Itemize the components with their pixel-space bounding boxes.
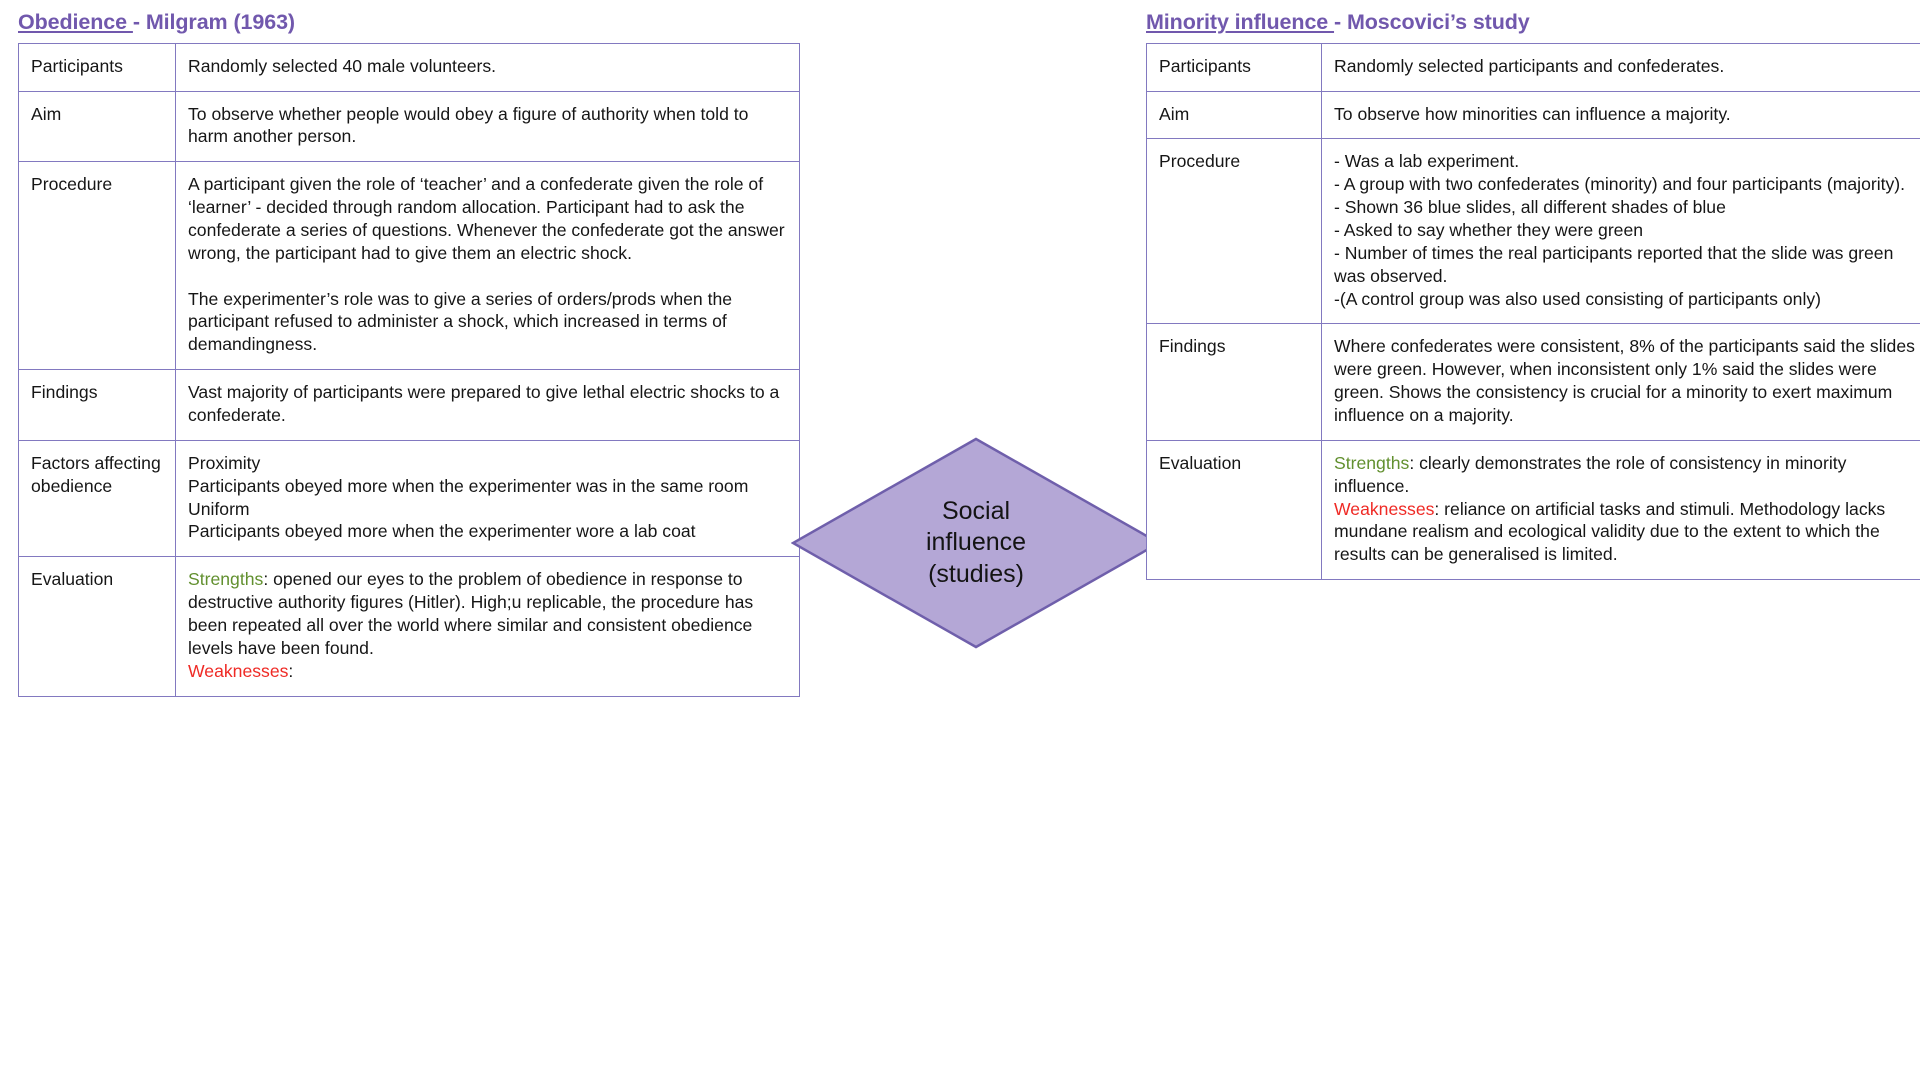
- evaluation-strengths: Strengths: clearly demonstrates the role…: [1334, 452, 1915, 498]
- weaknesses-label: Weaknesses: [188, 661, 288, 681]
- table-obedience: Participants Randomly selected 40 male v…: [18, 43, 800, 697]
- paragraph: To observe whether people would obey a f…: [188, 103, 787, 149]
- strengths-label: Strengths: [188, 569, 263, 589]
- list-item: - A group with two confederates (minorit…: [1334, 173, 1915, 196]
- row-body-procedure: - Was a lab experiment. - A group with t…: [1322, 139, 1920, 324]
- panel-title-subtitle: - Milgram (1963): [133, 10, 295, 34]
- table-row: Aim To observe how minorities can influe…: [1147, 91, 1920, 139]
- row-label-evaluation: Evaluation: [1147, 440, 1322, 579]
- study-panel-obedience: Obedience - Milgram (1963) Participants …: [18, 10, 800, 697]
- diamond-shape-icon: [791, 437, 1161, 649]
- paragraph: A participant given the role of ‘teacher…: [188, 173, 787, 264]
- table-row: Procedure - Was a lab experiment. - A gr…: [1147, 139, 1920, 324]
- weaknesses-label: Weaknesses: [1334, 499, 1434, 519]
- table-row: Findings Vast majority of participants w…: [19, 370, 800, 441]
- row-label-evaluation: Evaluation: [19, 557, 176, 696]
- paragraph: The experimenter’s role was to give a se…: [188, 288, 787, 357]
- list-item: - Shown 36 blue slides, all different sh…: [1334, 196, 1915, 219]
- strengths-text: : clearly demonstrates the role of consi…: [1334, 453, 1846, 496]
- paragraph: Where confederates were consistent, 8% o…: [1334, 335, 1915, 426]
- panel-title-subtitle: - Moscovici’s study: [1334, 10, 1530, 34]
- table-minority-influence: Participants Randomly selected participa…: [1146, 43, 1920, 580]
- table-row: Participants Randomly selected participa…: [1147, 43, 1920, 91]
- list-item: Proximity: [188, 452, 787, 475]
- center-node-social-influence: Social influence (studies): [791, 437, 1161, 649]
- row-label-aim: Aim: [19, 91, 176, 162]
- mindmap-canvas: Obedience - Milgram (1963) Participants …: [0, 0, 1920, 1080]
- list-item: Participants obeyed more when the experi…: [188, 475, 787, 498]
- strengths-text: : opened our eyes to the problem of obed…: [188, 569, 753, 658]
- list-item: - Number of times the real participants …: [1334, 242, 1915, 288]
- paragraph: Vast majority of participants were prepa…: [188, 381, 787, 427]
- table-row: Aim To observe whether people would obey…: [19, 91, 800, 162]
- list-item: Uniform: [188, 498, 787, 521]
- evaluation-weaknesses: Weaknesses:: [188, 660, 787, 683]
- weaknesses-text: :: [288, 661, 293, 681]
- table-row: Findings Where confederates were consist…: [1147, 324, 1920, 440]
- row-body-participants: Randomly selected participants and confe…: [1322, 43, 1920, 91]
- table-row: Factors affecting obedience Proximity Pa…: [19, 440, 800, 556]
- row-label-procedure: Procedure: [19, 162, 176, 370]
- paragraph: Randomly selected participants and confe…: [1334, 55, 1915, 78]
- row-body-participants: Randomly selected 40 male volunteers.: [176, 43, 800, 91]
- row-body-evaluation: Strengths: clearly demonstrates the role…: [1322, 440, 1920, 579]
- row-label-factors: Factors affecting obedience: [19, 440, 176, 556]
- evaluation-strengths: Strengths: opened our eyes to the proble…: [188, 568, 787, 659]
- row-body-evaluation: Strengths: opened our eyes to the proble…: [176, 557, 800, 696]
- row-body-findings: Where confederates were consistent, 8% o…: [1322, 324, 1920, 440]
- list-item: - Asked to say whether they were green: [1334, 219, 1915, 242]
- strengths-label: Strengths: [1334, 453, 1409, 473]
- table-row: Evaluation Strengths: opened our eyes to…: [19, 557, 800, 696]
- table-row: Participants Randomly selected 40 male v…: [19, 43, 800, 91]
- row-body-aim: To observe how minorities can influence …: [1322, 91, 1920, 139]
- panel-title-keyword: Obedience: [18, 10, 133, 34]
- row-body-procedure: A participant given the role of ‘teacher…: [176, 162, 800, 370]
- panel-title-minority-influence: Minority influence - Moscovici’s study: [1146, 10, 1920, 35]
- paragraph: Randomly selected 40 male volunteers.: [188, 55, 787, 78]
- paragraph: To observe how minorities can influence …: [1334, 103, 1915, 126]
- row-label-aim: Aim: [1147, 91, 1322, 139]
- row-label-participants: Participants: [1147, 43, 1322, 91]
- row-body-factors: Proximity Participants obeyed more when …: [176, 440, 800, 556]
- row-body-findings: Vast majority of participants were prepa…: [176, 370, 800, 441]
- row-label-findings: Findings: [1147, 324, 1322, 440]
- row-body-aim: To observe whether people would obey a f…: [176, 91, 800, 162]
- list-item: -(A control group was also used consisti…: [1334, 288, 1915, 311]
- row-label-participants: Participants: [19, 43, 176, 91]
- study-panel-minority-influence: Minority influence - Moscovici’s study P…: [1146, 10, 1920, 580]
- row-label-findings: Findings: [19, 370, 176, 441]
- table-row: Procedure A participant given the role o…: [19, 162, 800, 370]
- list-item: - Was a lab experiment.: [1334, 150, 1915, 173]
- table-row: Evaluation Strengths: clearly demonstrat…: [1147, 440, 1920, 579]
- list-item: Participants obeyed more when the experi…: [188, 520, 787, 543]
- evaluation-weaknesses: Weaknesses: reliance on artificial tasks…: [1334, 498, 1915, 567]
- row-label-procedure: Procedure: [1147, 139, 1322, 324]
- panel-title-keyword: Minority influence: [1146, 10, 1334, 34]
- panel-title-obedience: Obedience - Milgram (1963): [18, 10, 800, 35]
